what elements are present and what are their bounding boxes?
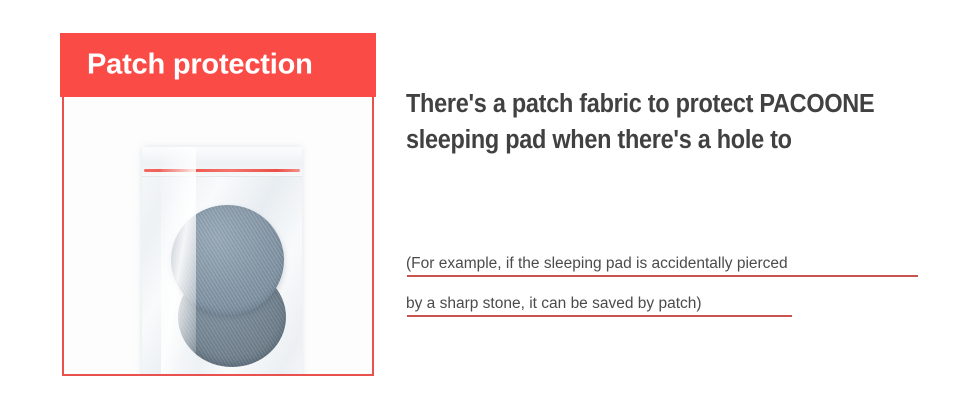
- patch-disc-upper: [171, 205, 284, 315]
- product-photo: [64, 97, 372, 374]
- product-card: Patch protection: [60, 33, 376, 378]
- headline: There's a patch fabric to protect PACOON…: [406, 86, 930, 158]
- text-column: There's a patch fabric to protect PACOON…: [406, 86, 931, 158]
- card-banner: Patch protection: [60, 33, 376, 97]
- subnote-line: by a sharp stone, it can be saved by pat…: [406, 294, 931, 317]
- zip-lock-bag: [142, 147, 302, 374]
- bag-seal-strip: [144, 169, 300, 172]
- subnote-block: (For example, if the sleeping pad is acc…: [406, 254, 931, 334]
- subnote-line: (For example, if the sleeping pad is acc…: [406, 254, 931, 277]
- card-banner-title: Patch protection: [87, 49, 313, 82]
- card-body: [62, 97, 374, 376]
- bag-top-fold: [142, 147, 302, 177]
